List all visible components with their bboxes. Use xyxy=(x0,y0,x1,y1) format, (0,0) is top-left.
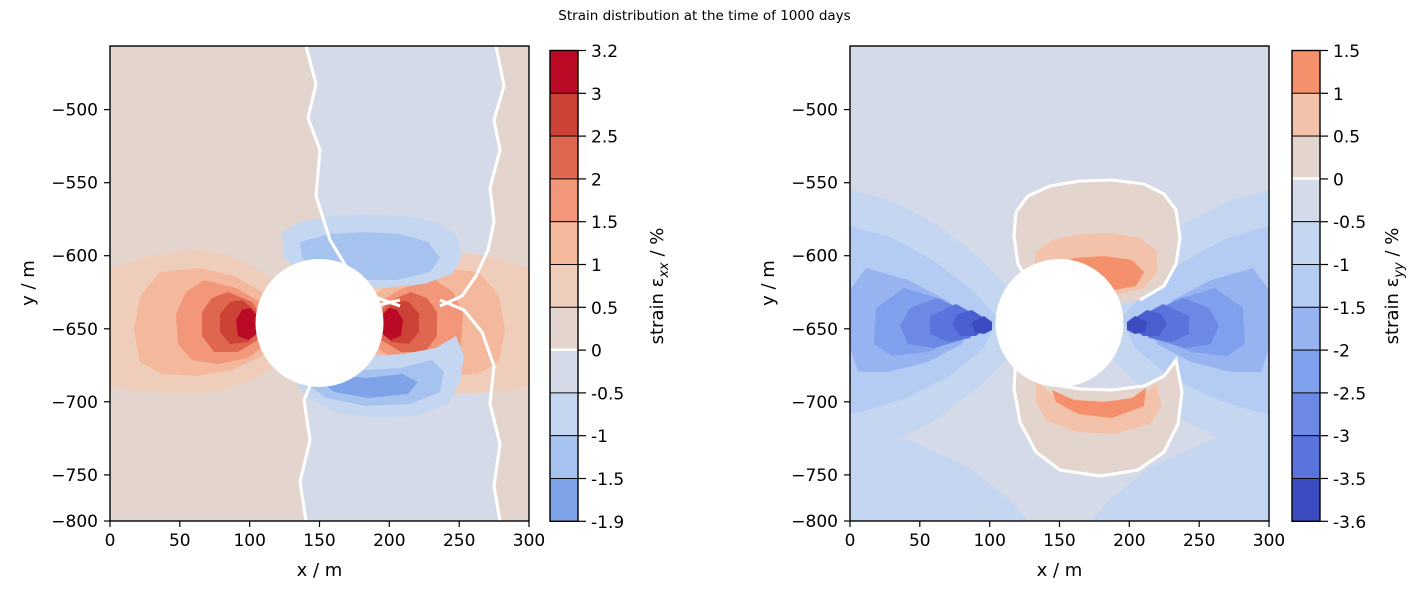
colorbar-zero-gap xyxy=(550,348,578,351)
colorbar-band xyxy=(550,93,578,136)
colorbar-tick-label: -0.5 xyxy=(1333,213,1366,233)
colorbar-tick-label: -3.5 xyxy=(1333,470,1366,490)
y-tick-label: −500 xyxy=(791,101,838,121)
y-tick-label: −800 xyxy=(791,512,838,532)
figure-canvas: Strain distribution at the time of 1000 … xyxy=(0,0,1409,592)
x-tick-label: 300 xyxy=(513,531,545,551)
x-tick-label: 150 xyxy=(303,531,335,551)
colorbar-tick-label: 3 xyxy=(591,85,602,105)
colorbar-tick-label: 1.5 xyxy=(591,213,618,233)
colorbar-band xyxy=(550,307,578,350)
colorbar-band xyxy=(550,179,578,222)
colorbar-tick-label: -3.6 xyxy=(1333,513,1366,533)
colorbar-tick-label: 1.5 xyxy=(1333,42,1360,62)
y-axis-label-xx: y / m xyxy=(18,260,39,306)
colorbar-band xyxy=(550,436,578,479)
y-tick-label: −700 xyxy=(51,393,98,413)
colorbar-band xyxy=(550,265,578,308)
x-axis-label-yy: x / m xyxy=(1037,560,1083,581)
colorbar-tick-label: 2 xyxy=(591,170,602,190)
colorbar-tick-label: 2.5 xyxy=(591,128,618,148)
colorbar-band xyxy=(1292,436,1320,479)
colorbar-tick-label: -2 xyxy=(1333,342,1350,362)
colorbar-tick-label: -1.9 xyxy=(591,513,624,533)
y-tick-label: −550 xyxy=(791,174,838,194)
colorbar-tick-label: 0 xyxy=(591,342,602,362)
y-axis-xx: −500 −550 −600 −650 −700 −750 −800 y / m xyxy=(18,101,110,532)
colorbar-band xyxy=(1292,179,1320,222)
y-axis-label-yy: y / m xyxy=(758,260,779,306)
colorbar-band xyxy=(1292,136,1320,179)
colorbar-tick-label: -1.5 xyxy=(591,470,624,490)
cavity-circle-yy xyxy=(996,259,1124,387)
y-tick-label: −700 xyxy=(791,393,838,413)
x-axis-xx: 0 50 100 150 200 250 300 x / m xyxy=(105,521,546,581)
y-tick-label: −600 xyxy=(51,247,98,267)
x-tick-label: 200 xyxy=(373,531,405,551)
x-tick-label: 150 xyxy=(1043,531,1075,551)
x-tick-label: 100 xyxy=(973,531,1005,551)
colorbar-band xyxy=(550,479,578,522)
colorbar-band xyxy=(1292,93,1320,136)
x-tick-label: 200 xyxy=(1113,531,1145,551)
colorbar-yy: 1.5 1 0.5 0 -0.5 -1 -1.5 -2 -2.5 -3 -3.5… xyxy=(1292,42,1407,533)
y-tick-label: −650 xyxy=(51,320,98,340)
colorbar-tick-label: -1 xyxy=(1333,256,1350,276)
x-axis-yy: 0 50 100 150 200 250 300 x / m xyxy=(845,521,1286,581)
y-axis-yy: −500 −550 −600 −650 −700 −750 −800 y / m xyxy=(758,101,850,532)
y-tick-label: −650 xyxy=(791,320,838,340)
colorbar-band xyxy=(1292,265,1320,308)
colorbar-band xyxy=(1292,51,1320,94)
y-tick-label: −800 xyxy=(51,512,98,532)
subplot-strain-xx: 0 50 100 150 200 250 300 x / m −500 −550… xyxy=(0,0,700,592)
x-tick-label: 50 xyxy=(169,531,191,551)
cavity-circle-xx xyxy=(256,259,384,387)
colorbar-band xyxy=(1292,350,1320,393)
colorbar-label-yy: strain εyy / % xyxy=(1382,228,1407,345)
colorbar-band xyxy=(1292,222,1320,265)
colorbar-tick-label: 3.2 xyxy=(591,42,618,62)
colorbar-tick-label: -2.5 xyxy=(1333,384,1366,404)
colorbar-band xyxy=(550,51,578,94)
colorbar-band xyxy=(550,136,578,179)
colorbar-band xyxy=(550,350,578,393)
colorbar-band xyxy=(1292,307,1320,350)
colorbar-tick-label: 0.5 xyxy=(591,299,618,319)
contour-field-yy xyxy=(850,46,1269,521)
colorbar-label-xx: strain εxx / % xyxy=(647,228,672,345)
x-axis-label-xx: x / m xyxy=(297,560,343,581)
y-tick-label: −750 xyxy=(51,466,98,486)
colorbar-band xyxy=(550,393,578,436)
colorbar-tick-label: -3 xyxy=(1333,427,1350,447)
x-tick-label: 100 xyxy=(233,531,265,551)
colorbar-tick-label: -0.5 xyxy=(591,384,624,404)
x-tick-label: 0 xyxy=(105,531,116,551)
colorbar-tick-label: -1.5 xyxy=(1333,299,1366,319)
y-tick-label: −750 xyxy=(791,466,838,486)
x-tick-label: 250 xyxy=(443,531,475,551)
colorbar-tick-label: 1 xyxy=(591,256,602,276)
colorbar-zero-gap xyxy=(1292,177,1320,180)
y-tick-label: −550 xyxy=(51,174,98,194)
x-tick-label: 250 xyxy=(1183,531,1215,551)
y-tick-label: −600 xyxy=(791,247,838,267)
y-tick-label: −500 xyxy=(51,101,98,121)
colorbar-xx: 3.2 3 2.5 2 1.5 1 0.5 0 -0.5 -1 -1.5 -1.… xyxy=(550,42,672,533)
colorbar-tick-label: 0.5 xyxy=(1333,128,1360,148)
colorbar-tick-label: 0 xyxy=(1333,170,1344,190)
x-tick-label: 300 xyxy=(1253,531,1285,551)
x-tick-label: 0 xyxy=(845,531,856,551)
x-tick-label: 50 xyxy=(909,531,931,551)
colorbar-band xyxy=(1292,479,1320,522)
colorbar-tick-label: -1 xyxy=(591,427,608,447)
contour-field-xx xyxy=(110,46,529,521)
colorbar-band xyxy=(1292,393,1320,436)
colorbar-tick-label: 1 xyxy=(1333,85,1344,105)
colorbar-band xyxy=(550,222,578,265)
subplot-strain-yy: 0 50 100 150 200 250 300 x / m −500 −550… xyxy=(740,0,1409,592)
